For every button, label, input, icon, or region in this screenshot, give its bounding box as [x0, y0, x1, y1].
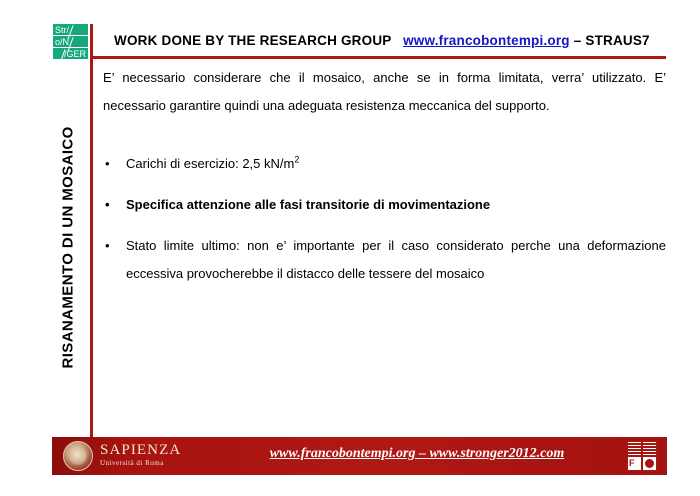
fbo-cell-top-left — [628, 442, 641, 455]
footer-website-link[interactable]: www.francobontempi.org – www.stronger201… — [202, 446, 632, 462]
section-vertical-title: RISANAMENTO DI UN MOSAICO — [60, 129, 77, 369]
fbo-circle-icon — [645, 459, 654, 468]
logo-text-line-3: /GER — [53, 49, 88, 59]
bullet-list: •Carichi di esercizio: 2,5 kN/m2•Specifi… — [103, 150, 666, 288]
fbo-cell-top-right — [643, 442, 656, 455]
fbo-logo: F — [626, 440, 658, 472]
sapienza-name: SAPIENZA — [100, 443, 181, 458]
bullet-item: •Carichi di esercizio: 2,5 kN/m2 — [103, 150, 666, 178]
header-website-link[interactable]: www.francobontempi.org — [403, 33, 570, 48]
fbo-cell-bottom-right — [643, 457, 656, 470]
header-title: WORK DONE BY THE RESEARCH GROUP www.fran… — [114, 33, 664, 48]
fbo-logo-grid: F — [628, 442, 656, 470]
header-title-suffix: – STRAUS7 — [570, 33, 650, 48]
header-title-prefix: WORK DONE BY THE RESEARCH GROUP — [114, 33, 391, 48]
bullet-text: Specifica attenzione alle fasi transitor… — [126, 197, 490, 212]
left-vertical-rule — [90, 24, 93, 438]
bullet-text: Carichi di esercizio: 2,5 kN/m — [126, 156, 294, 171]
bullet-marker-icon: • — [105, 191, 110, 219]
sapienza-seal-inner — [69, 447, 87, 465]
sapienza-subtitle: Università di Roma — [100, 460, 181, 467]
bullet-superscript: 2 — [294, 155, 299, 165]
fbo-letter-f: F — [629, 457, 635, 469]
bullet-text: Stato limite ultimo: non e’ importante p… — [126, 238, 666, 281]
bullet-marker-icon: • — [105, 232, 110, 260]
bullet-item: •Stato limite ultimo: non e’ importante … — [103, 232, 666, 288]
intro-paragraph: E’ necessario considerare che il mosaico… — [103, 64, 666, 120]
sapienza-wordmark: SAPIENZA Università di Roma — [100, 443, 181, 467]
bullet-marker-icon: • — [105, 150, 110, 178]
sapienza-seal-icon — [63, 441, 93, 471]
header-horizontal-rule — [92, 56, 666, 59]
slide-canvas: Str/ o/N /GER WORK DONE BY THE RESEARCH … — [0, 0, 700, 496]
fbo-cell-bottom-left: F — [628, 457, 641, 470]
footer-bar: SAPIENZA Università di Roma www.francobo… — [52, 437, 667, 475]
bullet-item: •Specifica attenzione alle fasi transito… — [103, 191, 666, 219]
stronger-logo: Str/ o/N /GER — [53, 24, 88, 59]
slide-body: E’ necessario considerare che il mosaico… — [103, 64, 666, 301]
